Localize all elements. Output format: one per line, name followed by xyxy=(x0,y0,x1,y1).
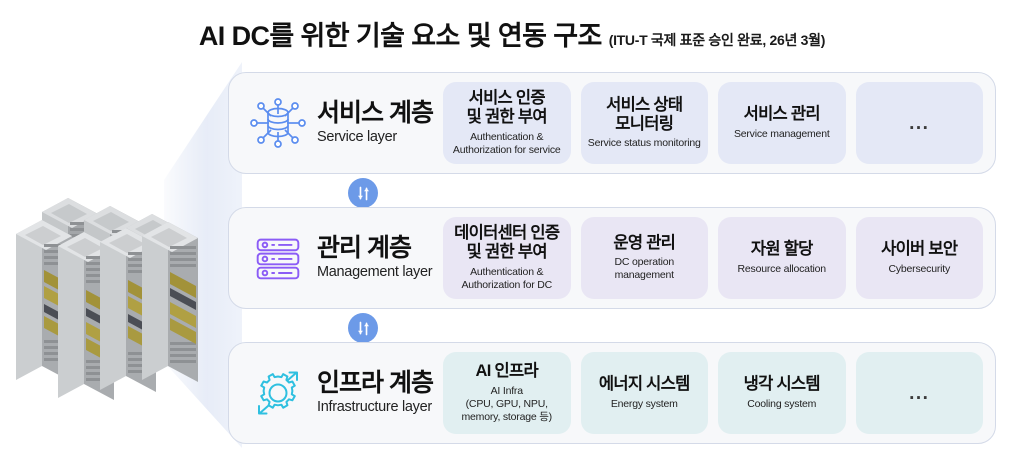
card-ai-infra[interactable]: AI 인프라 AI Infra(CPU, GPU, NPU,memory, st… xyxy=(443,352,571,434)
card-title-ko: 서비스 상태모니터링 xyxy=(606,96,682,134)
card-title-en: DC operation management xyxy=(585,256,705,282)
server-rack-illustration xyxy=(12,178,222,403)
layer-title-ko-infrastructure: 인프라 계층 xyxy=(317,370,433,397)
card-title-en: Authentication &Authorization for DC xyxy=(461,266,552,292)
card-list-infrastructure: AI 인프라 AI Infra(CPU, GPU, NPU,memory, st… xyxy=(443,352,983,434)
card-title-ko: 에너지 시스템 xyxy=(599,375,690,394)
card-title-en: Resource allocation xyxy=(738,263,826,276)
card-list-service: 서비스 인증및 권한 부여 Authentication &Authorizat… xyxy=(443,82,983,164)
card-title-ko: AI 인프라 xyxy=(476,362,538,381)
layer-head-management: 관리 계층 Management layer xyxy=(247,227,443,289)
card-dc-auth[interactable]: 데이터센터 인증및 권한 부여 Authentication &Authoriz… xyxy=(443,217,571,299)
connector-management-infrastructure xyxy=(348,313,378,343)
card-title-ko: 서비스 관리 xyxy=(744,105,820,124)
up-down-arrows-icon xyxy=(354,184,373,203)
card-cooling-system[interactable]: 냉각 시스템 Cooling system xyxy=(718,352,846,434)
page-title-note: (ITU-T 국제 표준 승인 완료, 26년 3월) xyxy=(609,32,825,48)
card-title-ko: 사이버 보안 xyxy=(881,240,957,259)
page-title-main: AI DC를 위한 기술 요소 및 연동 구조 xyxy=(199,21,602,51)
page-title: AI DC를 위한 기술 요소 및 연동 구조(ITU-T 국제 표준 승인 완… xyxy=(0,14,1024,53)
card-service-more[interactable]: ... xyxy=(856,82,984,164)
layer-title-en-service: Service layer xyxy=(317,130,397,146)
card-title-en: Service status monitoring xyxy=(588,137,701,150)
card-title-en: Energy system xyxy=(611,398,678,411)
card-infrastructure-more[interactable]: ... xyxy=(856,352,984,434)
card-title-en: Service management xyxy=(734,128,830,141)
service-network-database-icon xyxy=(247,92,309,154)
card-energy-system[interactable]: 에너지 시스템 Energy system xyxy=(581,352,709,434)
gear-arrows-icon xyxy=(247,362,309,424)
server-stack-icon xyxy=(247,227,309,289)
card-title-en: Cybersecurity xyxy=(888,263,950,276)
card-title-en: Authentication &Authorization for servic… xyxy=(453,131,561,157)
layer-names-service: 서비스 계층 Service layer xyxy=(317,100,433,146)
card-title-ko: 데이터센터 인증및 권한 부여 xyxy=(454,224,559,262)
up-down-arrows-icon xyxy=(354,319,373,338)
layer-names-management: 관리 계층 Management layer xyxy=(317,235,432,281)
connector-service-management xyxy=(348,178,378,208)
ellipsis-icon: ... xyxy=(909,114,929,133)
card-service-auth[interactable]: 서비스 인증및 권한 부여 Authentication &Authorizat… xyxy=(443,82,571,164)
card-resource-allocation[interactable]: 자원 할당 Resource allocation xyxy=(718,217,846,299)
layer-head-service: 서비스 계층 Service layer xyxy=(247,92,443,154)
layer-panel-infrastructure[interactable]: 인프라 계층 Infrastructure layer AI 인프라 AI In… xyxy=(228,342,996,444)
card-title-en: Cooling system xyxy=(747,398,816,411)
card-list-management: 데이터센터 인증및 권한 부여 Authentication &Authoriz… xyxy=(443,217,983,299)
card-dc-operation-management[interactable]: 운영 관리 DC operation management xyxy=(581,217,709,299)
card-service-status-monitoring[interactable]: 서비스 상태모니터링 Service status monitoring xyxy=(581,82,709,164)
layer-head-infrastructure: 인프라 계층 Infrastructure layer xyxy=(247,362,443,424)
card-title-en: AI Infra(CPU, GPU, NPU,memory, storage 등… xyxy=(462,385,552,424)
card-service-management[interactable]: 서비스 관리 Service management xyxy=(718,82,846,164)
layer-title-en-management: Management layer xyxy=(317,265,432,281)
layer-title-ko-service: 서비스 계층 xyxy=(317,100,433,127)
card-title-ko: 자원 할당 xyxy=(751,240,813,259)
card-cybersecurity[interactable]: 사이버 보안 Cybersecurity xyxy=(856,217,984,299)
card-title-ko: 서비스 인증및 권한 부여 xyxy=(467,89,547,127)
card-title-ko: 운영 관리 xyxy=(613,234,675,253)
ellipsis-icon: ... xyxy=(909,384,929,403)
layer-names-infrastructure: 인프라 계층 Infrastructure layer xyxy=(317,370,433,416)
layer-panel-service[interactable]: 서비스 계층 Service layer 서비스 인증및 권한 부여 Authe… xyxy=(228,72,996,174)
card-title-ko: 냉각 시스템 xyxy=(744,375,820,394)
layer-title-en-infrastructure: Infrastructure layer xyxy=(317,400,432,416)
layer-panel-management[interactable]: 관리 계층 Management layer 데이터센터 인증및 권한 부여 A… xyxy=(228,207,996,309)
layer-title-ko-management: 관리 계층 xyxy=(317,235,411,262)
